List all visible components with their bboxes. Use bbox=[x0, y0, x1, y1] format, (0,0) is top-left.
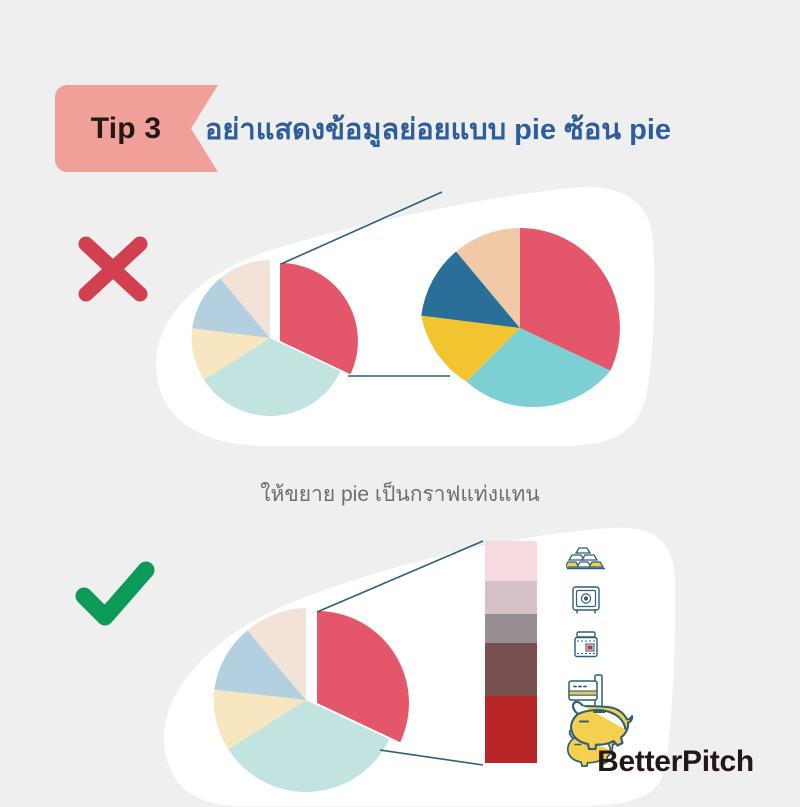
check-icon bbox=[70, 548, 160, 638]
bar-segment-credit-card bbox=[485, 643, 537, 696]
bar-segment-money-jar bbox=[485, 614, 537, 643]
page-title: อย่าแสดงข้อมูลย่อยแบบ pie ซ้อน pie bbox=[205, 103, 785, 155]
tip-ribbon: Tip 3 bbox=[55, 85, 220, 172]
tip-badge-label: Tip 3 bbox=[55, 85, 197, 172]
bar-segment-safe bbox=[485, 581, 537, 614]
cross-icon bbox=[72, 228, 154, 310]
brand-logo: BetterPitch bbox=[558, 695, 793, 790]
bar-segment-piggy-bank bbox=[485, 696, 537, 763]
money-jar-icon bbox=[563, 629, 609, 661]
gold-bars-icon bbox=[563, 542, 609, 572]
piggy-bank-logo-icon bbox=[566, 695, 638, 751]
bar-segment-gold-bars bbox=[485, 541, 537, 581]
safe-icon bbox=[563, 584, 609, 616]
bad-example-panel bbox=[150, 178, 660, 453]
stacked-bar-chart bbox=[485, 541, 537, 763]
poster-canvas: Tip 3 อย่าแสดงข้อมูลย่อยแบบ pie ซ้อน pie bbox=[0, 0, 800, 800]
brand-name: BetterPitch bbox=[558, 745, 793, 779]
section-caption: ให้ขยาย pie เป็นกราฟแท่งแทน bbox=[0, 478, 800, 511]
